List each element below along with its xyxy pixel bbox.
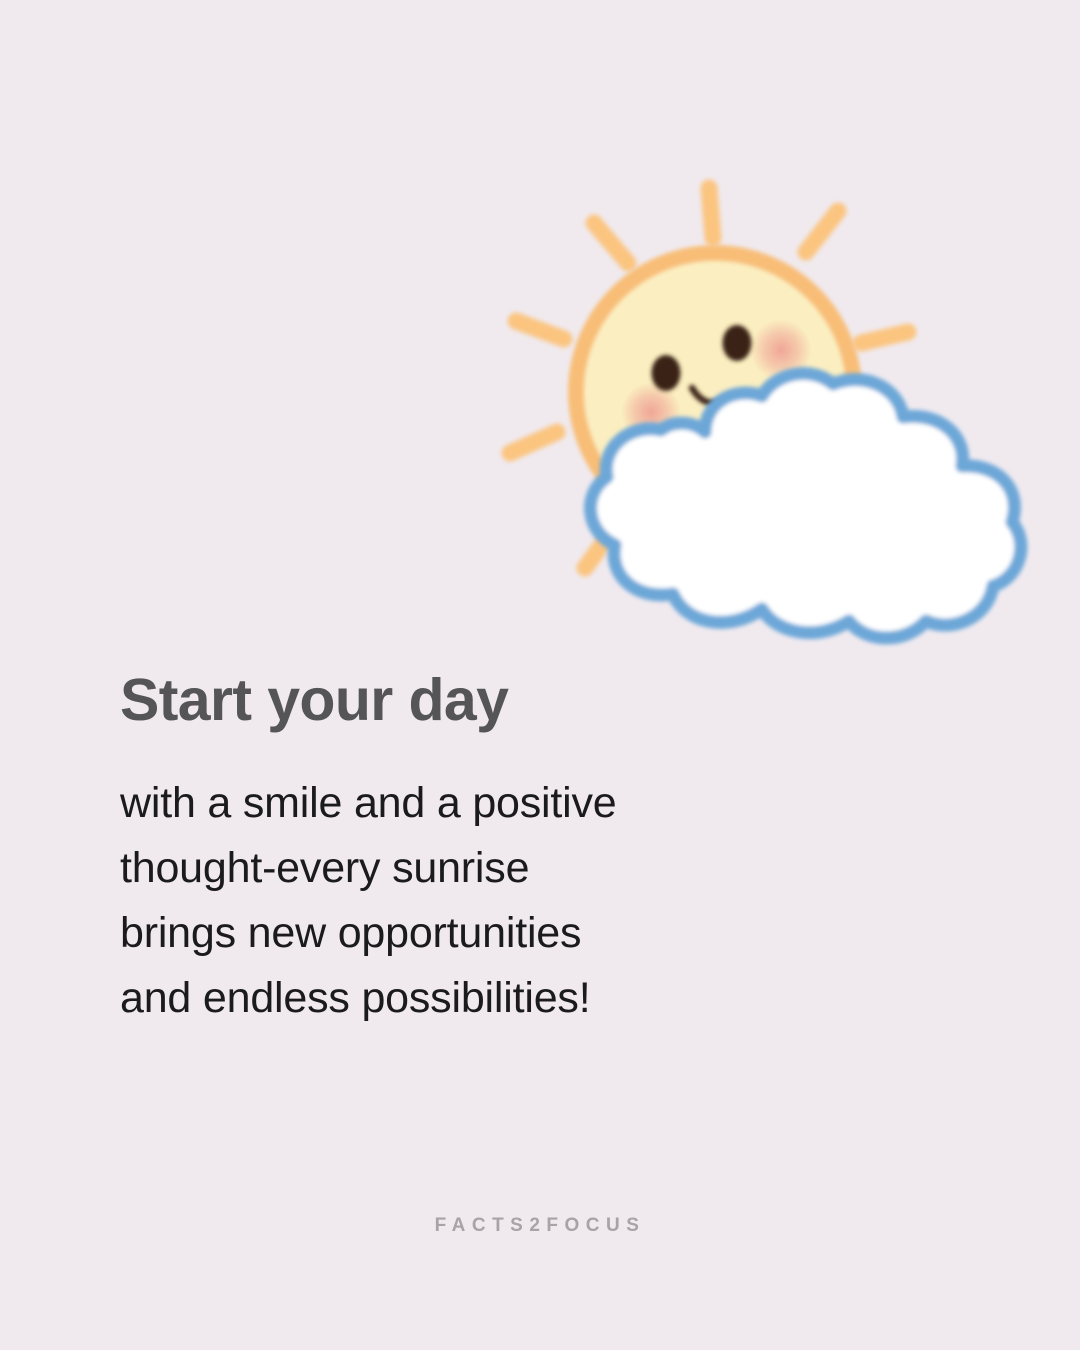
body-copy: with a smile and a positive thought-ever… — [120, 771, 960, 1031]
body-line: and endless possibilities! — [120, 966, 960, 1031]
text-block: Start your day with a smile and a positi… — [120, 665, 960, 1031]
body-line: thought-every sunrise — [120, 836, 960, 901]
poster-canvas: Start your day with a smile and a positi… — [0, 0, 1080, 1350]
body-line: brings new opportunities — [120, 901, 960, 966]
page-title: Start your day — [120, 665, 960, 735]
body-line: with a smile and a positive — [120, 771, 960, 836]
brand-watermark: FACTS2FOCUS — [0, 1215, 1080, 1237]
sun-behind-cloud-illustration — [0, 0, 1080, 700]
